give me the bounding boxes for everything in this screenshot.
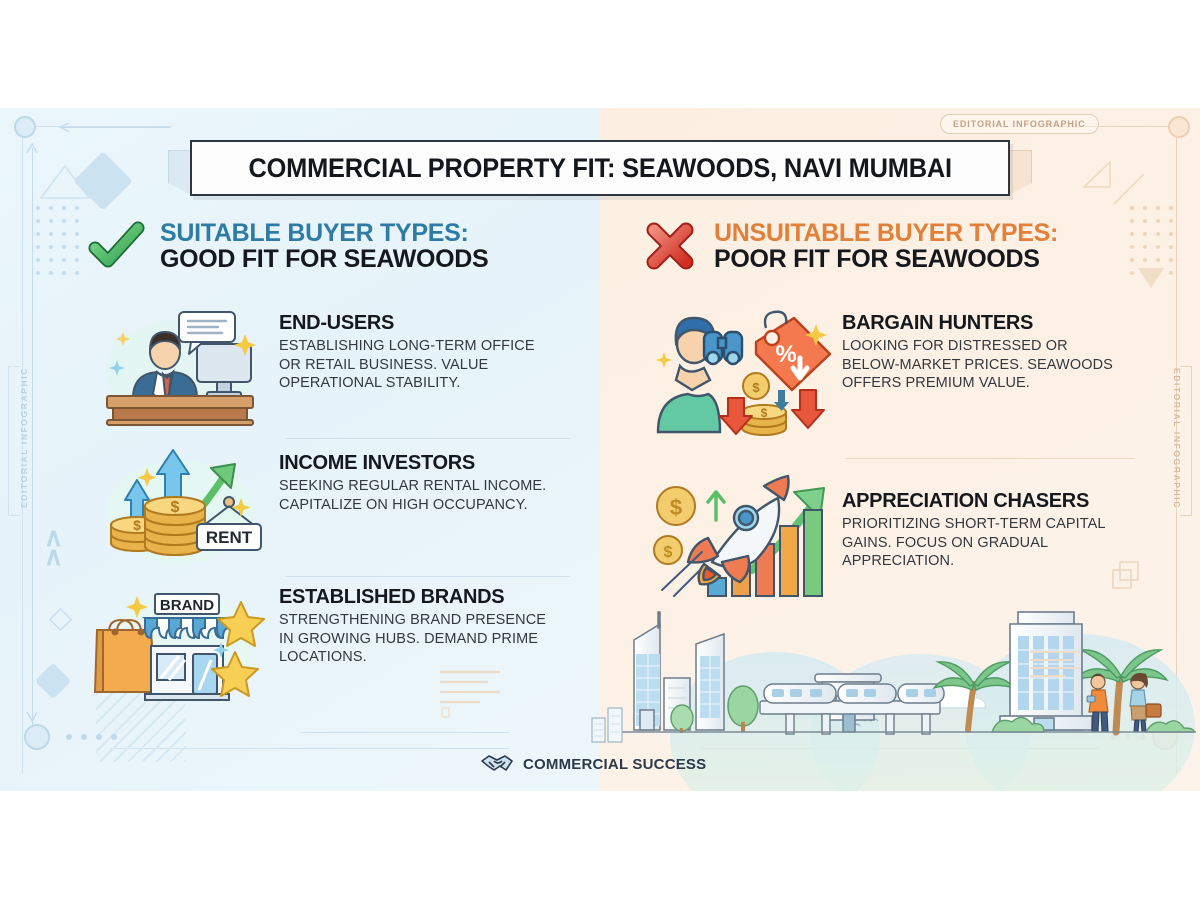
left-divider-2 <box>285 576 570 577</box>
right-heading-text: UNSUITABLE BUYER TYPES: POOR FIT FOR SEA… <box>714 220 1058 272</box>
title-box: COMMERCIAL PROPERTY FIT: SEAWOODS, NAVI … <box>190 140 1010 196</box>
check-mark-icon <box>88 218 144 274</box>
left-heading-text: SUITABLE BUYER TYPES: GOOD FIT FOR SEAWO… <box>160 220 488 272</box>
svg-text:$: $ <box>670 495 682 520</box>
appreciation-chasers-text: APPRECIATION CHASERS PRIORITIZING SHORT-… <box>842 466 1127 571</box>
footer-label: COMMERCIAL SUCCESS <box>523 756 706 773</box>
left-heading: GOOD FIT FOR SEAWOODS <box>160 246 488 272</box>
percent-label: % <box>775 341 796 368</box>
infographic-canvas: ∧∧ <box>0 0 1200 900</box>
item-title: INCOME INVESTORS <box>279 452 549 475</box>
binoculars-discount-tag-icon: % <box>648 306 818 428</box>
item-desc: PRIORITIZING SHORT-TERM CAPITAL GAINS. F… <box>842 515 1127 571</box>
right-heading: POOR FIT FOR SEAWOODS <box>714 246 1058 272</box>
left-divider-1 <box>285 438 570 439</box>
title-banner: COMMERCIAL PROPERTY FIT: SEAWOODS, NAVI … <box>190 140 1010 196</box>
svg-text:$: $ <box>133 517 141 533</box>
svg-text:$: $ <box>664 544 673 561</box>
cross-mark-icon <box>642 218 698 274</box>
list-item-appreciation-chasers: $ $ APPRECIATION CHASERS PRIORITIZING SH… <box>648 466 1127 588</box>
handshake-icon <box>480 752 514 776</box>
infographic-board: ∧∧ <box>0 108 1200 791</box>
item-title: BARGAIN HUNTERS <box>842 312 1127 335</box>
frame-line-bottom-left <box>110 748 510 749</box>
list-item-end-users: END-USERS ESTABLISHING LONG-TERM OFFICE … <box>95 306 549 428</box>
storefront-brand-icon: BRAND <box>95 580 265 702</box>
item-desc: LOOKING FOR DISTRESSED OR BELOW-MARKET P… <box>842 337 1127 393</box>
list-item-established-brands: BRAND <box>95 580 549 702</box>
item-title: ESTABLISHED BRANDS <box>279 586 549 609</box>
coin-stacks-rent-sign-icon: $ $ <box>95 446 265 568</box>
editorial-badge: EDITORIAL INFOGRAPHIC <box>940 114 1099 134</box>
right-column-heading: UNSUITABLE BUYER TYPES: POOR FIT FOR SEA… <box>642 218 1058 274</box>
cityscape-illustration <box>600 578 1200 778</box>
income-investors-text: INCOME INVESTORS SEEKING REGULAR RENTAL … <box>279 446 549 514</box>
rent-sign-label: RENT <box>206 528 253 547</box>
rocket-growth-chart-icon: $ $ <box>648 466 818 588</box>
svg-text:$: $ <box>171 499 180 516</box>
item-desc: STRENGTHENING BRAND PRESENCE IN GROWING … <box>279 611 549 667</box>
right-kicker: UNSUITABLE BUYER TYPES: <box>714 220 1058 246</box>
side-label-right: EDITORIAL INFOGRAPHIC <box>1172 368 1182 509</box>
end-users-text: END-USERS ESTABLISHING LONG-TERM OFFICE … <box>279 306 549 393</box>
right-divider-1 <box>845 458 1135 459</box>
decor-lines-right <box>1030 648 1090 684</box>
svg-text:$: $ <box>752 380 760 395</box>
left-kicker: SUITABLE BUYER TYPES: <box>160 220 488 246</box>
page-title: COMMERCIAL PROPERTY FIT: SEAWOODS, NAVI … <box>248 153 951 184</box>
brand-sign-label: BRAND <box>160 597 214 614</box>
svg-text:$: $ <box>761 406 768 420</box>
item-title: APPRECIATION CHASERS <box>842 490 1127 513</box>
frame-line-top-left <box>22 126 172 127</box>
list-item-income-investors: $ $ <box>95 446 549 568</box>
list-item-bargain-hunters: % <box>648 306 1127 428</box>
item-title: END-USERS <box>279 312 549 335</box>
mini-skyline <box>588 700 628 744</box>
item-desc: ESTABLISHING LONG-TERM OFFICE OR RETAIL … <box>279 337 549 393</box>
footer-badge: COMMERCIAL SUCCESS <box>480 752 706 776</box>
item-desc: SEEKING REGULAR RENTAL INCOME. CAPITALIZ… <box>279 477 549 514</box>
bargain-hunters-text: BARGAIN HUNTERS LOOKING FOR DISTRESSED O… <box>842 306 1127 393</box>
businessman-at-desk-icon <box>95 306 265 428</box>
established-brands-text: ESTABLISHED BRANDS STRENGTHENING BRAND P… <box>279 580 549 667</box>
side-label-left: EDITORIAL INFOGRAPHIC <box>19 367 29 508</box>
left-column-heading: SUITABLE BUYER TYPES: GOOD FIT FOR SEAWO… <box>88 218 488 274</box>
